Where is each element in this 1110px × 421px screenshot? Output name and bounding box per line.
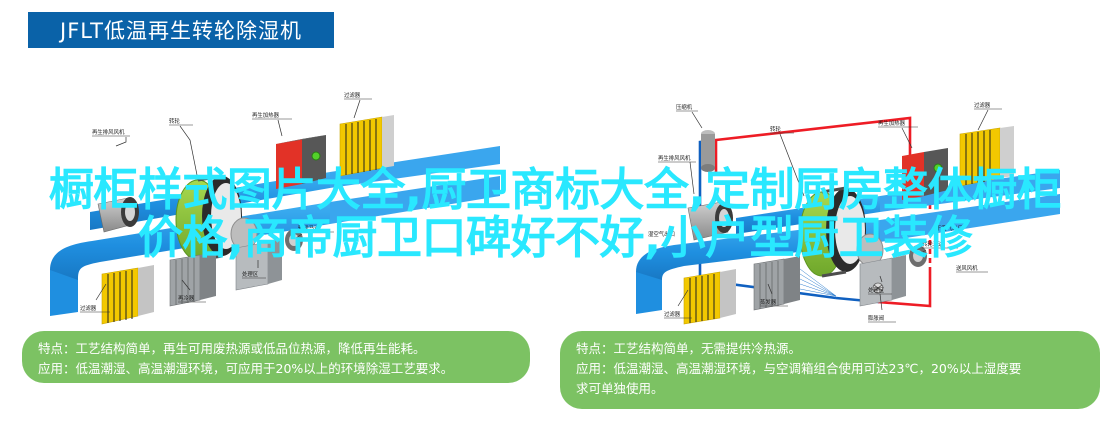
product-title-banner: JFLT低温再生转轮除湿机	[28, 12, 334, 48]
caption-left-feature: 特点：工艺结构简单，再生可用废热源或低品位热源，降低再生能耗。	[38, 339, 514, 359]
process-zone	[236, 239, 282, 290]
label-regen-heater: 再生加热器	[252, 111, 280, 119]
product-title-text: JFLT低温再生转轮除湿机	[60, 15, 302, 45]
label-precooler: 再冷器	[178, 294, 195, 302]
diagram-heat-pump-dehumidifier: 压缩机 再生排风风机 转轮 再生加热器 过滤器 过滤器 蒸发器 处理区	[630, 84, 1100, 324]
caption-right-application-cont: 求可单独使用。	[576, 379, 1084, 399]
label-expansion-valve: 膨胀阀	[868, 314, 884, 322]
label-regen-exhaust-fan-r: 再生排风风机	[658, 154, 691, 162]
label-process-zone: 处理区	[242, 270, 259, 278]
caption-box-left: 特点：工艺结构简单，再生可用废热源或低品位热源，降低再生能耗。 应用：低温潮湿、…	[22, 331, 530, 383]
label-compressor: 压缩机	[676, 103, 693, 111]
filter-top	[340, 115, 394, 176]
label-filter-top: 过滤器	[344, 91, 361, 99]
caption-box-right: 特点：工艺结构简单，无需提供冷热源。 应用：低温潮湿、高温潮湿环境，与空调箱组合…	[560, 331, 1100, 409]
label-wet-air-outlet-r: 湿空气出口	[648, 230, 675, 238]
label-rotor-r: 转轮	[770, 125, 781, 133]
regen-exhaust-fan-r	[688, 202, 733, 240]
regen-exhaust-fan	[98, 197, 139, 232]
rotor-motor-r	[909, 245, 927, 267]
label-dry-air-outlet-r: 干空气出口	[936, 224, 963, 232]
filter-bottom-r	[684, 269, 736, 324]
label-regen-heater-r: 再生加热器	[878, 119, 906, 127]
diagram-low-temp-regen-dehumidifier: 再生排风风机 转轮 再生加热器 过滤器 过滤器 再冷器 处理区 转轮马达	[30, 84, 540, 324]
diagram-right-svg: 压缩机 再生排风风机 转轮 再生加热器 过滤器 过滤器 蒸发器 处理区	[630, 84, 1100, 324]
label-rotor-motor: 转轮马达	[298, 224, 320, 232]
label-regen-exhaust-fan: 再生排风风机	[92, 128, 125, 136]
diagram-left-svg: 再生排风风机 转轮 再生加热器 过滤器 过滤器 再冷器 处理区 转轮马达	[30, 84, 540, 324]
caption-right-application: 应用：低温潮湿、高温潮湿环境，与空调箱组合使用可达23℃，20%以上湿度要	[576, 359, 1084, 379]
caption-right-feature: 特点：工艺结构简单，无需提供冷热源。	[576, 339, 1084, 359]
label-process-zone-r: 处理区	[868, 286, 885, 294]
rotor-motor	[285, 229, 303, 251]
caption-left-application: 应用：低温潮湿、高温潮湿环境，可应用于20%以上的环境除湿工艺要求。	[38, 359, 514, 379]
label-supply-fan-r: 送风风机	[956, 264, 978, 272]
label-evaporator: 蒸发器	[760, 298, 777, 306]
label-filter-top-r: 过滤器	[974, 101, 991, 109]
compressor	[701, 130, 715, 172]
process-zone-r	[860, 255, 906, 306]
label-filter-bottom-r: 过滤器	[664, 310, 681, 318]
filter-top-r	[960, 126, 1014, 186]
filter-bottom	[102, 265, 154, 324]
label-filter-bottom: 过滤器	[80, 304, 97, 312]
label-rotor: 转轮	[169, 117, 180, 125]
label-rotor-motor-r: 转轮马达	[922, 240, 944, 248]
